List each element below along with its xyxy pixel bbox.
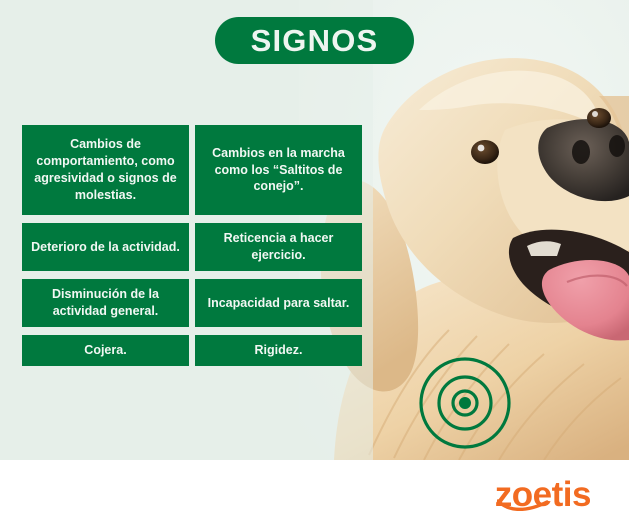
title-badge: SIGNOS — [215, 17, 414, 64]
page-title: SIGNOS — [251, 25, 379, 56]
poster-root: SIGNOS Cambios de comportamiento, como a… — [0, 0, 629, 528]
sign-box[interactable]: Cojera. — [22, 335, 189, 366]
target-rings-svg — [418, 356, 512, 450]
signs-right-column: Cambios en la marcha como los “Saltitos … — [195, 125, 362, 366]
sign-box[interactable]: Incapacidad para saltar. — [195, 279, 362, 327]
sign-box[interactable]: Cambios en la marcha como los “Saltitos … — [195, 125, 362, 215]
signs-grid: Cambios de comportamiento, como agresivi… — [22, 125, 362, 366]
sign-box[interactable]: Deterioro de la actividad. — [22, 223, 189, 271]
zoetis-logo-text: zoetis — [495, 475, 591, 514]
signs-left-column: Cambios de comportamiento, como agresivi… — [22, 125, 189, 366]
sign-box[interactable]: Cambios de comportamiento, como agresivi… — [22, 125, 189, 215]
target-rings-icon — [418, 356, 512, 450]
sign-box[interactable]: Rigidez. — [195, 335, 362, 366]
sign-box[interactable]: Disminución de la actividad general. — [22, 279, 189, 327]
zoetis-logo: zoetis — [495, 477, 591, 512]
sign-box[interactable]: Reticencia a hacer ejercicio. — [195, 223, 362, 271]
footer-bar: zoetis — [0, 460, 629, 528]
